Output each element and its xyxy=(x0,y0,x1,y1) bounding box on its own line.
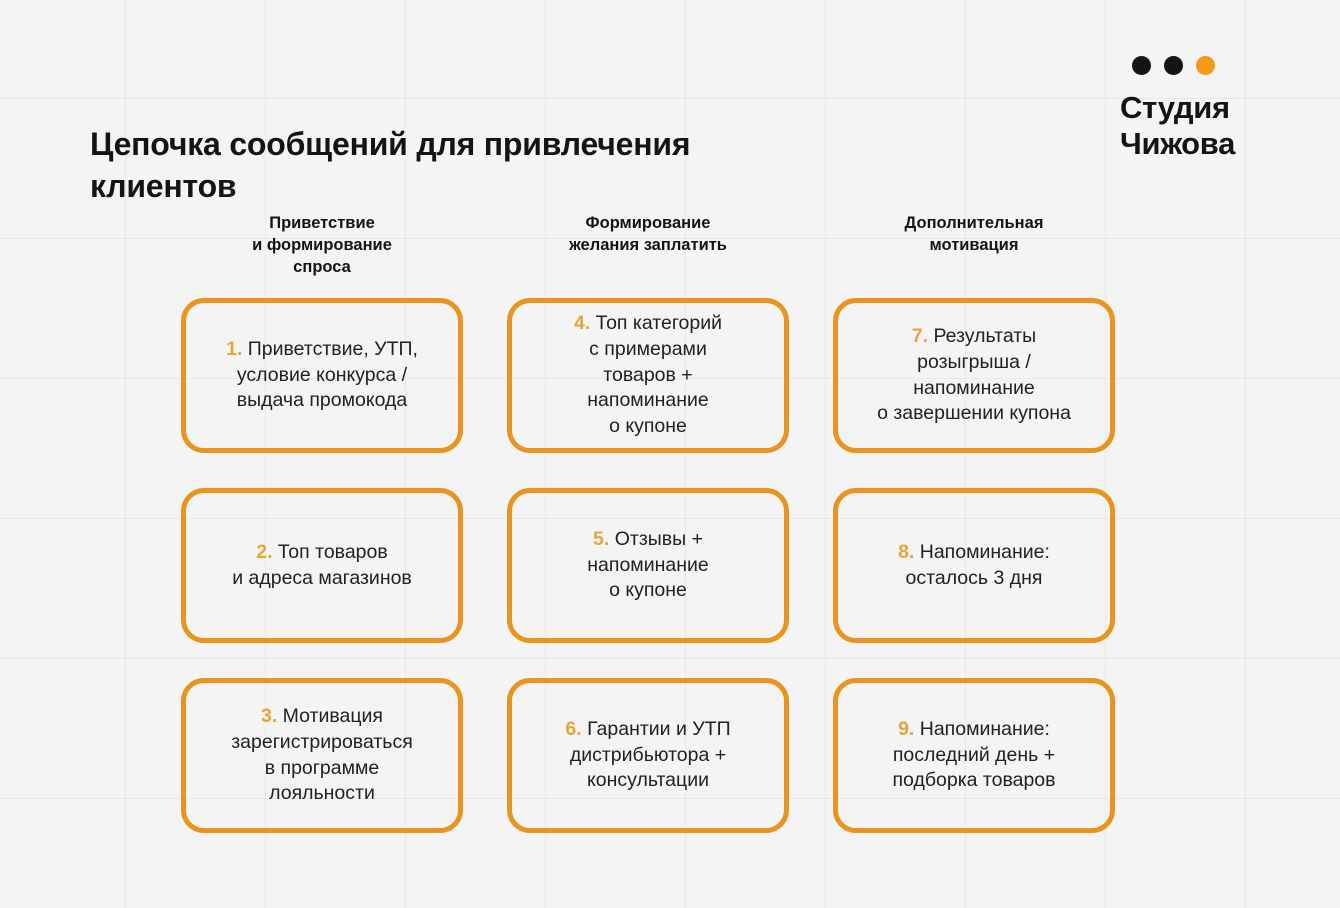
card-body-4: Топ категорий с примерами товаров + напо… xyxy=(587,312,722,438)
message-card-5[interactable]: 5. Отзывы + напоминание о купоне xyxy=(507,488,789,643)
stage-columns: Приветствие и формирование спроса 1. При… xyxy=(181,213,1115,833)
card-number-1: 1. xyxy=(226,338,242,360)
message-card-4[interactable]: 4. Топ категорий с примерами товаров + н… xyxy=(507,298,789,453)
card-body-1: Приветствие, УТП, условие конкурса / выд… xyxy=(237,338,418,412)
card-number-3: 3. xyxy=(261,705,277,727)
card-number-8: 8. xyxy=(898,541,914,563)
card-body-8: Напоминание: осталось 3 дня xyxy=(906,541,1050,589)
column-header-1: Приветствие и формирование спроса xyxy=(181,213,463,298)
card-body-3: Мотивация зарегистрироваться в программе… xyxy=(231,705,413,805)
logo-dot-1-icon xyxy=(1132,56,1151,75)
column-cards-1: 1. Приветствие, УТП, условие конкурса / … xyxy=(181,298,463,833)
card-body-6: Гарантии и УТП дистрибьютора + консульта… xyxy=(570,718,731,792)
card-number-2: 2. xyxy=(256,541,272,563)
card-number-5: 5. xyxy=(593,528,609,550)
logo-dot-3-icon xyxy=(1196,56,1215,75)
card-body-9: Напоминание: последний день + подборка т… xyxy=(892,718,1055,792)
card-text-4: 4. Топ категорий с примерами товаров + н… xyxy=(574,311,722,441)
message-card-8[interactable]: 8. Напоминание: осталось 3 дня xyxy=(833,488,1115,643)
column-cards-3: 7. Результаты розыгрыша / напоминание о … xyxy=(833,298,1115,833)
column-cards-2: 4. Топ категорий с примерами товаров + н… xyxy=(507,298,789,833)
message-card-7[interactable]: 7. Результаты розыгрыша / напоминание о … xyxy=(833,298,1115,453)
card-text-6: 6. Гарантии и УТП дистрибьютора + консул… xyxy=(565,717,730,795)
column-header-2: Формирование желания заплатить xyxy=(507,213,789,298)
column-welcome: Приветствие и формирование спроса 1. При… xyxy=(181,213,463,833)
card-text-5: 5. Отзывы + напоминание о купоне xyxy=(587,527,708,605)
card-number-4: 4. xyxy=(574,312,590,334)
card-number-9: 9. xyxy=(898,718,914,740)
logo-dot-2-icon xyxy=(1164,56,1183,75)
column-header-3: Дополнительная мотивация xyxy=(833,213,1115,298)
message-card-3[interactable]: 3. Мотивация зарегистрироваться в програ… xyxy=(181,678,463,833)
card-text-8: 8. Напоминание: осталось 3 дня xyxy=(898,540,1050,592)
message-card-6[interactable]: 6. Гарантии и УТП дистрибьютора + консул… xyxy=(507,678,789,833)
card-number-7: 7. xyxy=(912,325,928,347)
message-card-2[interactable]: 2. Топ товаров и адреса магазинов xyxy=(181,488,463,643)
card-body-7: Результаты розыгрыша / напоминание о зав… xyxy=(877,325,1071,425)
card-text-9: 9. Напоминание: последний день + подборк… xyxy=(892,717,1055,795)
card-text-2: 2. Топ товаров и адреса магазинов xyxy=(232,540,412,592)
slide-canvas: Цепочка сообщений для привлечения клиент… xyxy=(0,0,1340,908)
card-text-1: 1. Приветствие, УТП, условие конкурса / … xyxy=(226,337,418,415)
message-card-9[interactable]: 9. Напоминание: последний день + подборк… xyxy=(833,678,1115,833)
brand-logo: Студия Чижова xyxy=(1088,56,1278,163)
logo-text: Студия Чижова xyxy=(1120,90,1278,163)
message-card-1[interactable]: 1. Приветствие, УТП, условие конкурса / … xyxy=(181,298,463,453)
card-text-3: 3. Мотивация зарегистрироваться в програ… xyxy=(231,704,413,808)
page-title: Цепочка сообщений для привлечения клиент… xyxy=(90,124,890,207)
card-text-7: 7. Результаты розыгрыша / напоминание о … xyxy=(877,324,1071,428)
column-extra-motivation: Дополнительная мотивация 7. Результаты р… xyxy=(833,213,1115,833)
column-desire: Формирование желания заплатить 4. Топ ка… xyxy=(507,213,789,833)
logo-dots-group xyxy=(1132,56,1278,75)
card-number-6: 6. xyxy=(565,718,581,740)
